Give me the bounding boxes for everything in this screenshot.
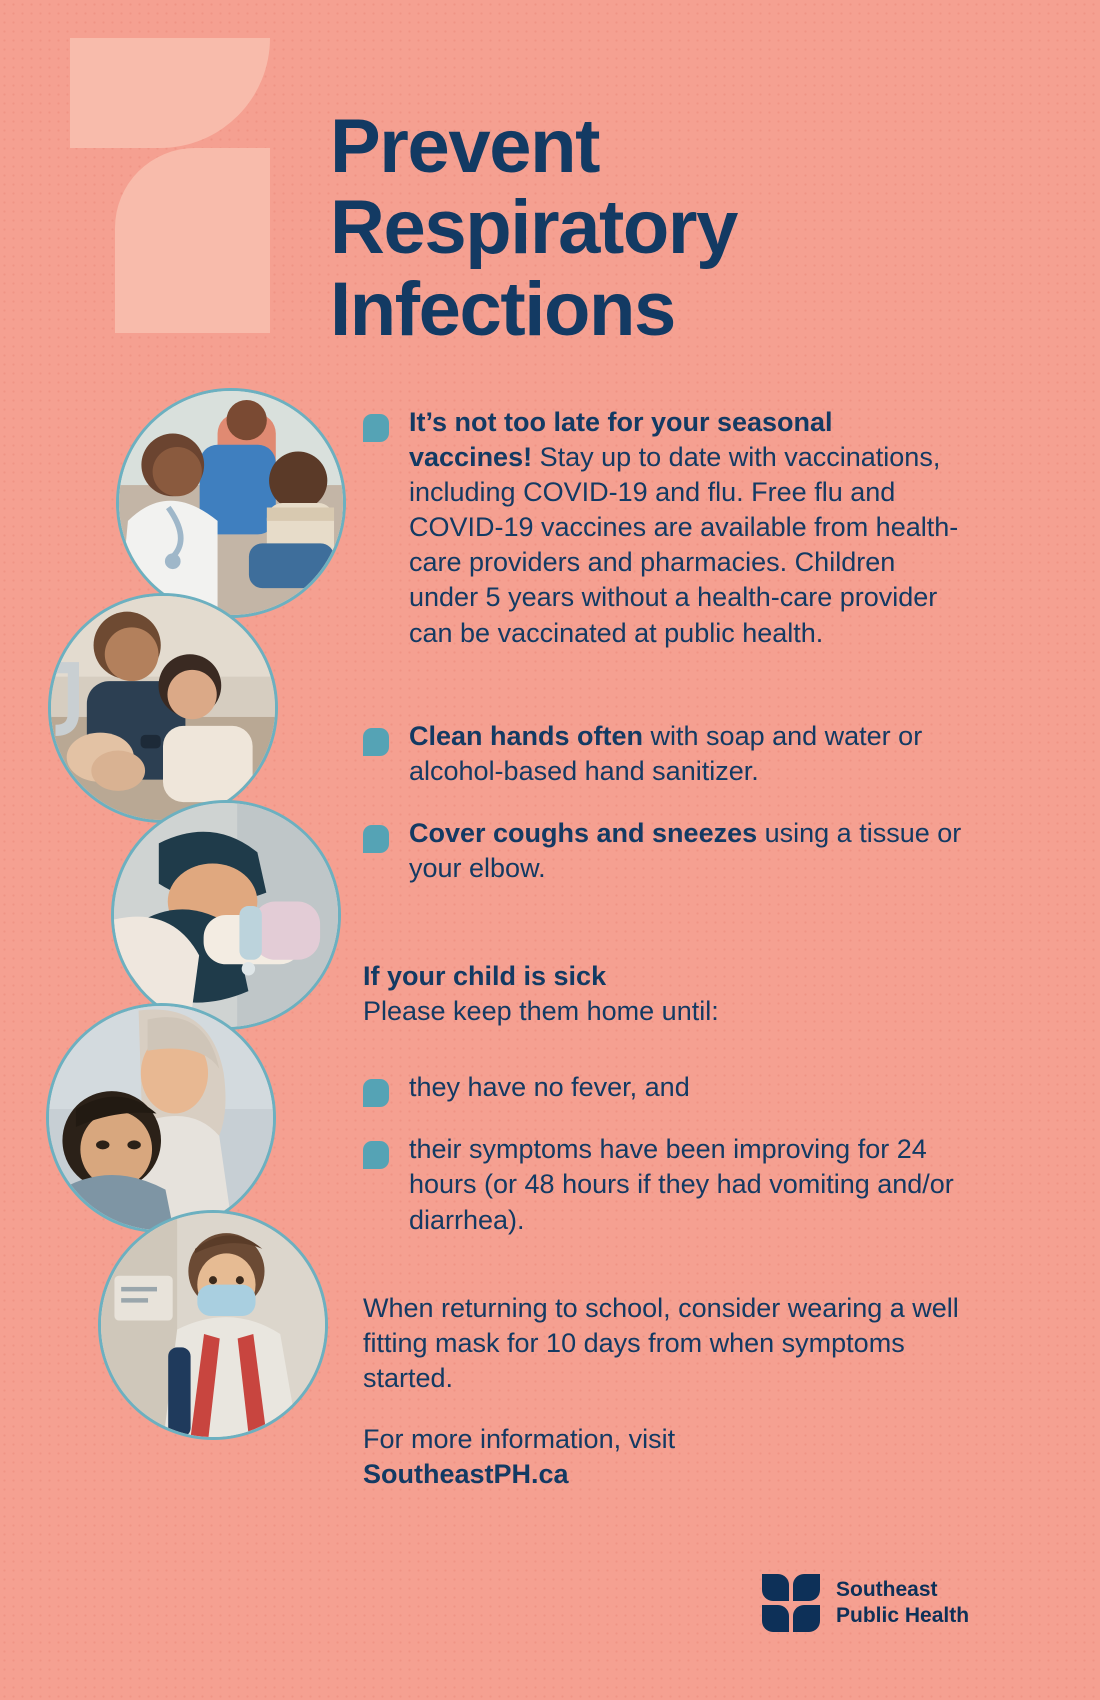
poster-canvas: Prevent Respiratory Infections [0,0,1100,1700]
leaf-bullet-icon [363,825,389,853]
leaf-bullet-icon [363,1141,389,1169]
bullet-symptoms-improving: their symptoms have been improving for 2… [363,1132,963,1237]
decorative-leaf-bottom [115,148,270,333]
bullet-clean-hands-text: Clean hands often with soap and water or… [409,719,963,789]
photo-father-and-child-washing-hands [48,593,278,823]
spacer [363,913,963,959]
return-to-school-paragraph: When returning to school, consider weari… [363,1291,963,1396]
photo-doctor-examining-child [116,388,346,618]
sick-section-subheading: Please keep them home until: [363,994,963,1029]
spacer [363,1396,963,1422]
leaf-logo-icon [760,1570,822,1636]
spacer [363,1265,963,1291]
bullet-clean-hands: Clean hands often with soap and water or… [363,719,963,789]
photo-mother-comforting-sick-child [46,1003,276,1233]
leaf-bullet-icon [363,728,389,756]
page-title: Prevent Respiratory Infections [330,106,950,350]
spacer [363,1029,963,1043]
bullet-no-fever: they have no fever, and [363,1070,963,1105]
more-info-lead: For more information, visit [363,1422,963,1457]
decorative-leaf-top [70,38,270,148]
title-line-3: Infections [330,269,950,350]
spacer [363,678,963,692]
title-line-2: Respiratory [330,187,950,268]
sick-section-heading: If your child is sick [363,959,963,994]
leaf-bullet-icon [363,1079,389,1107]
bullet-cover-coughs-text: Cover coughs and sneezes using a tissue … [409,816,963,886]
title-line-1: Prevent [330,106,950,187]
logo-line-1: Southeast [836,1577,969,1603]
bullet-vaccines-text: It’s not too late for your seasonal vacc… [409,405,963,651]
bullet-cover-coughs: Cover coughs and sneezes using a tissue … [363,816,963,886]
southeast-public-health-logo: Southeast Public Health [760,1565,970,1640]
photo-child-wearing-mask-with-backpack [98,1210,328,1440]
bullet-clean-hands-bold: Clean hands often [409,721,643,751]
decorative-leaf-shape [70,38,270,333]
more-info-website[interactable]: SoutheastPH.ca [363,1457,963,1492]
logo-line-2: Public Health [836,1603,969,1629]
leaf-bullet-icon [363,414,389,442]
logo-wordmark: Southeast Public Health [836,1577,969,1628]
bullet-symptoms-improving-text: their symptoms have been improving for 2… [409,1132,963,1237]
bullet-vaccines: It’s not too late for your seasonal vacc… [363,405,963,651]
bullet-no-fever-text: they have no fever, and [409,1070,963,1105]
bullet-vaccines-rest: Stay up to date with vaccinations, inclu… [409,442,958,647]
photo-child-coughing-into-elbow [111,800,341,1030]
content-column: It’s not too late for your seasonal vacc… [363,378,963,1492]
bullet-cover-coughs-bold: Cover coughs and sneezes [409,818,757,848]
